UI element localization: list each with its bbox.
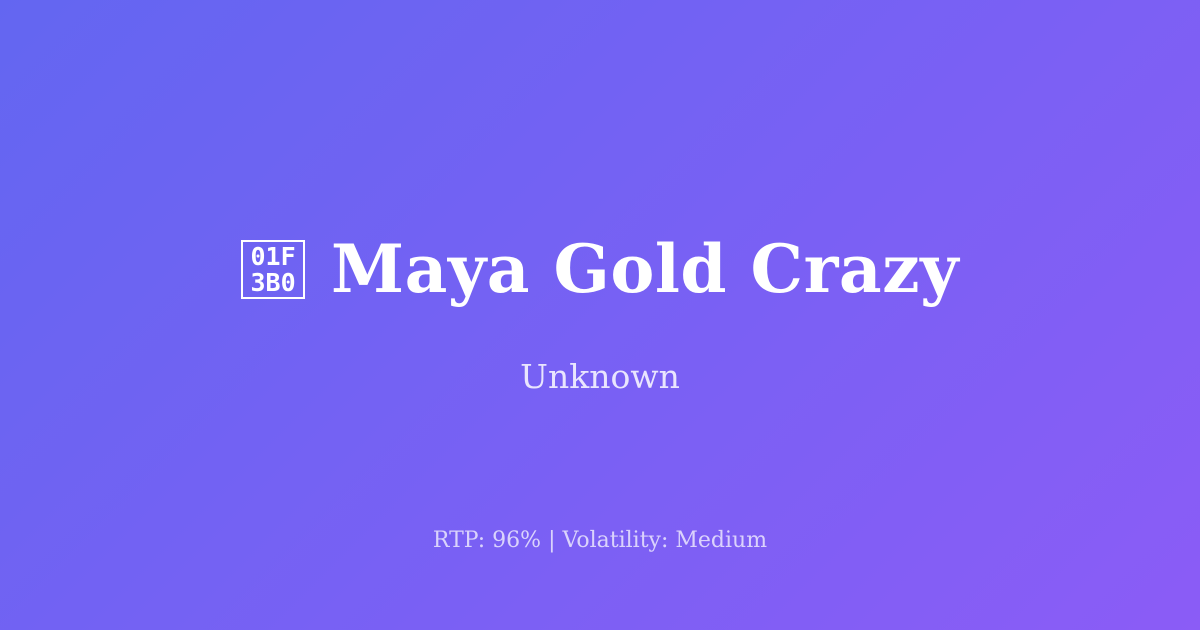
tofu-codepoint-high: 01F	[250, 244, 295, 270]
tofu-codepoint-low: 3B0	[250, 270, 295, 296]
slot-machine-icon: 01F 3B0	[241, 240, 305, 299]
page-title: Maya Gold Crazy	[331, 235, 959, 304]
game-stats-line: RTP: 96% | Volatility: Medium	[0, 528, 1200, 554]
game-preview-card: 01F 3B0 Maya Gold Crazy Unknown RTP: 96%…	[0, 0, 1200, 630]
title-row: 01F 3B0 Maya Gold Crazy	[241, 235, 959, 304]
game-provider-label: Unknown	[520, 359, 680, 395]
